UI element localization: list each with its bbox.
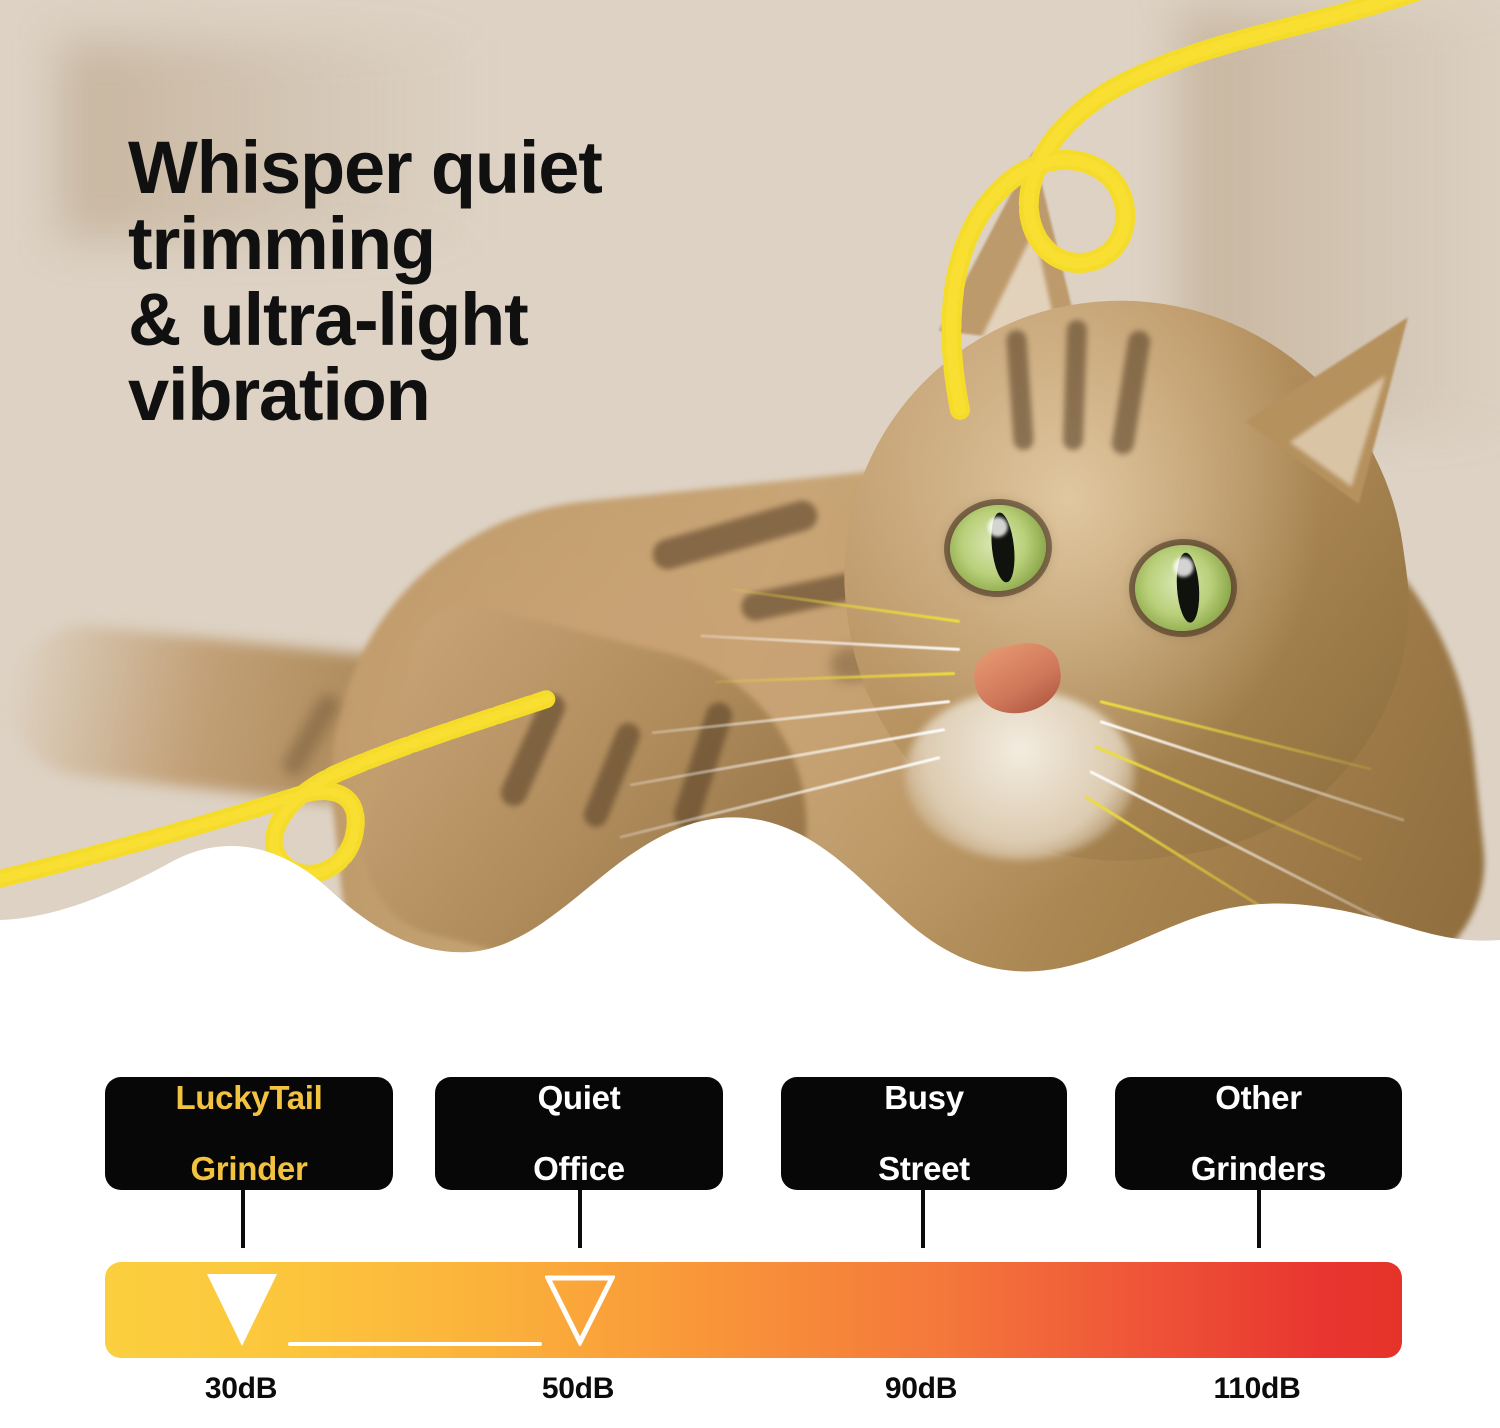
- tick-label-30db: 30dB: [141, 1372, 341, 1406]
- chart-label-line-1: Busy: [870, 1080, 978, 1116]
- tick-label-50db: 50dB: [478, 1372, 678, 1406]
- chart-label-line-2: Street: [870, 1151, 978, 1187]
- chart-label-other-grinders: Other Grinders: [1115, 1077, 1402, 1190]
- tick-label-90db: 90dB: [821, 1372, 1021, 1406]
- chart-connector-1: [241, 1190, 245, 1248]
- page-title: Whisper quiet trimming & ultra-light vib…: [128, 132, 788, 435]
- chart-connector-2: [578, 1190, 582, 1248]
- marker-connecting-line: [288, 1342, 542, 1346]
- noise-comparison-chart: LuckyTail Grinder Quiet Office Busy Stre…: [0, 1050, 1500, 1428]
- headline-line-1: Whisper quiet: [128, 132, 788, 204]
- headline-line-3: & ultra-light: [128, 284, 788, 356]
- chart-label-quiet-office: Quiet Office: [435, 1077, 723, 1190]
- promo-banner: Whisper quiet trimming & ultra-light vib…: [0, 0, 1500, 1428]
- marker-luckytail-grinder: [207, 1274, 277, 1346]
- wave-divider: [0, 790, 1500, 1010]
- chart-label-busy-street: Busy Street: [781, 1077, 1067, 1190]
- tick-label-110db: 110dB: [1157, 1372, 1357, 1406]
- headline-line-2: trimming: [128, 208, 788, 280]
- chart-label-line-1: Quiet: [525, 1080, 633, 1116]
- chart-connector-3: [921, 1190, 925, 1248]
- chart-label-line-2: Office: [525, 1151, 633, 1187]
- chart-connector-4: [1257, 1190, 1261, 1248]
- chart-label-line-2: Grinder: [167, 1151, 330, 1187]
- chart-label-line-2: Grinders: [1183, 1151, 1334, 1187]
- marker-quiet-office: [545, 1274, 615, 1346]
- chart-label-line-1: Other: [1183, 1080, 1334, 1116]
- chart-label-luckytail-grinder: LuckyTail Grinder: [105, 1077, 393, 1190]
- chart-label-line-1: LuckyTail: [167, 1080, 330, 1116]
- headline-line-4: vibration: [128, 359, 788, 431]
